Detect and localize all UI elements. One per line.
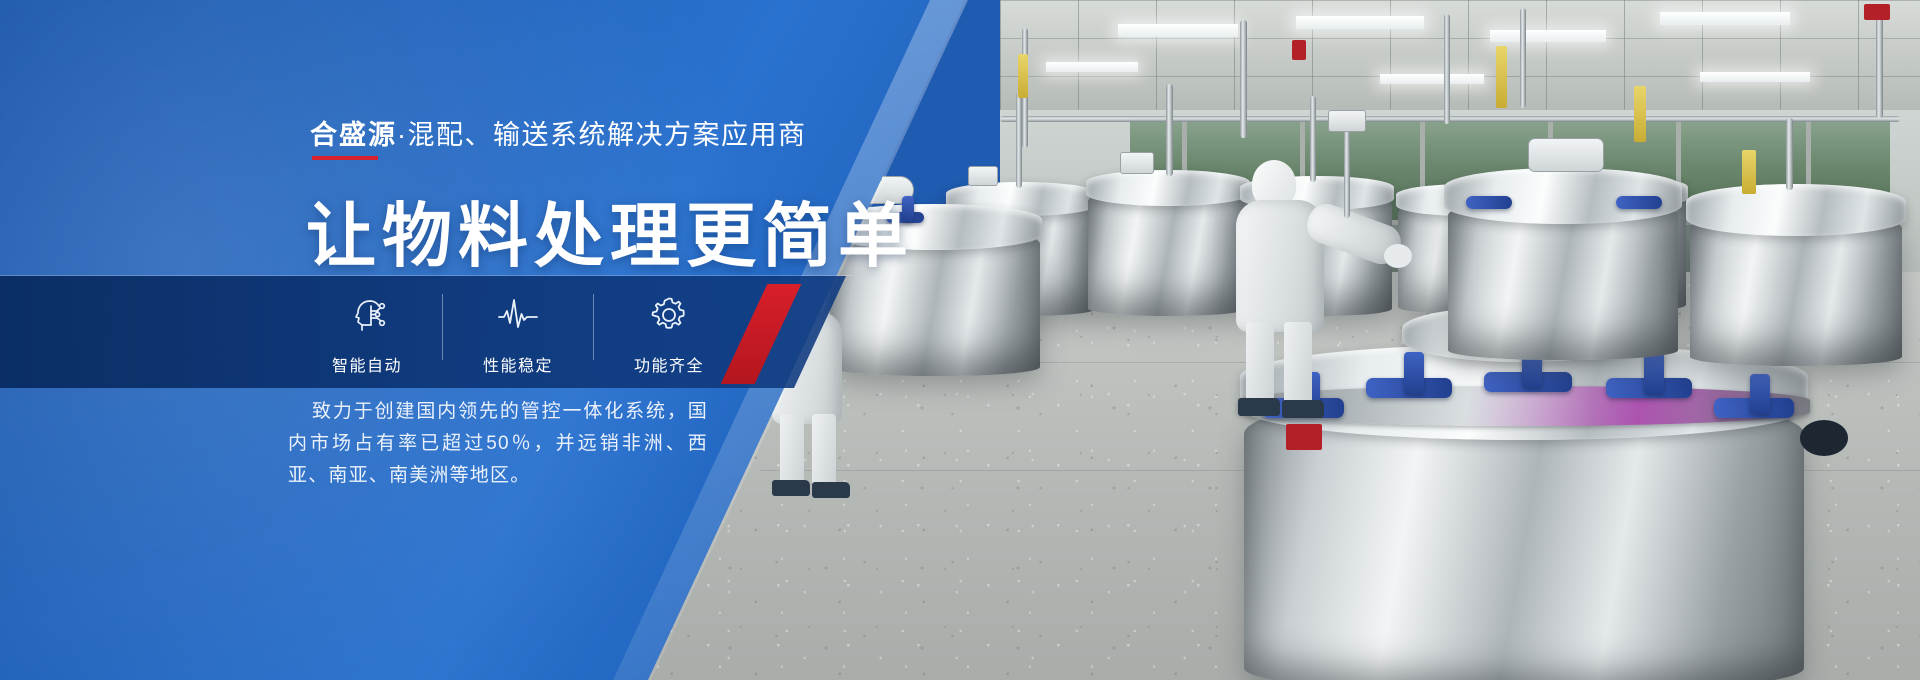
tagline-separator: · — [397, 120, 408, 150]
control-box — [1328, 110, 1366, 132]
tank-label-red — [1286, 424, 1322, 450]
tagline-rest: 混配、输送系统解决方案应用商 — [408, 120, 807, 150]
overhead-pipe — [1000, 116, 1900, 122]
tagline: 合盛源·混配、输送系统解决方案应用商 — [310, 113, 807, 152]
tank-inlet-pipe — [1786, 118, 1793, 190]
red-underline-accent — [312, 156, 378, 160]
feature-item-stable-performance[interactable]: 性能稳定 — [451, 292, 585, 376]
vertical-pipe — [1876, 6, 1883, 118]
feature-item-intelligent-automation[interactable]: 智能自动 — [300, 292, 434, 376]
vertical-pipe — [1444, 14, 1450, 124]
worker-glove — [1384, 244, 1412, 268]
feature-divider — [593, 294, 594, 360]
brand-name: 合盛源 — [310, 120, 397, 150]
feature-list: 智能自动 性能稳定 功能齐全 — [300, 292, 736, 376]
pulse-waveform-icon — [496, 292, 540, 338]
yellow-hose — [1496, 46, 1507, 108]
tank-clamp — [1404, 352, 1424, 394]
feature-label: 功能齐全 — [634, 352, 704, 376]
banner-content: 合盛源·混配、输送系统解决方案应用商 让物料处理更简单 — [0, 0, 1000, 680]
tank-inlet-pipe — [1166, 84, 1173, 176]
ceiling-lamp — [1490, 30, 1606, 42]
agitator-housing — [1528, 138, 1604, 172]
yellow-hose — [1018, 54, 1028, 98]
tank-sensor-knob — [1800, 420, 1848, 456]
yellow-hose — [1634, 86, 1646, 142]
tank-clamp-handle — [1466, 196, 1512, 209]
tank-clamp-handle — [1616, 196, 1662, 209]
pipe-valve-handle — [1864, 4, 1890, 20]
ceiling-lamp — [1380, 74, 1484, 84]
tank-clamp — [1644, 352, 1664, 394]
yellow-hose — [1742, 150, 1756, 194]
page-title: 让物料处理更简单 — [306, 180, 914, 281]
tank-inlet-pipe — [1016, 92, 1022, 188]
feature-item-full-function[interactable]: 功能齐全 — [602, 292, 736, 376]
worker-shoe — [1282, 400, 1324, 418]
tank-instrument-box — [1120, 152, 1154, 174]
worker-leg — [1284, 322, 1312, 404]
gear-icon — [648, 292, 690, 338]
ceiling-lamp — [1700, 72, 1810, 82]
vertical-pipe — [1344, 126, 1350, 218]
worker-leg — [1246, 322, 1274, 404]
feature-label: 性能稳定 — [483, 352, 553, 376]
ai-head-icon — [346, 292, 388, 338]
vertical-pipe — [1520, 8, 1526, 108]
ceiling-lamp — [1296, 16, 1424, 29]
hero-banner: 合盛源·混配、输送系统解决方案应用商 让物料处理更简单 — [0, 0, 1920, 680]
worker-shoe — [1238, 398, 1280, 416]
tank-clamp — [1750, 374, 1770, 414]
vertical-pipe — [1240, 20, 1247, 138]
feature-label: 智能自动 — [332, 352, 402, 376]
ceiling-lamp — [1118, 24, 1238, 37]
tank-lid — [1686, 184, 1906, 236]
exit-sign — [1292, 40, 1306, 60]
ceiling-lamp — [1046, 62, 1138, 72]
feature-divider — [442, 294, 443, 360]
tank-inlet-pipe — [1310, 96, 1316, 182]
banner-description: 致力于创建国内领先的管控一体化系统，国内市场占有率已超过50％，并远销非洲、西亚… — [288, 396, 708, 492]
ceiling-lamp — [1660, 12, 1790, 25]
